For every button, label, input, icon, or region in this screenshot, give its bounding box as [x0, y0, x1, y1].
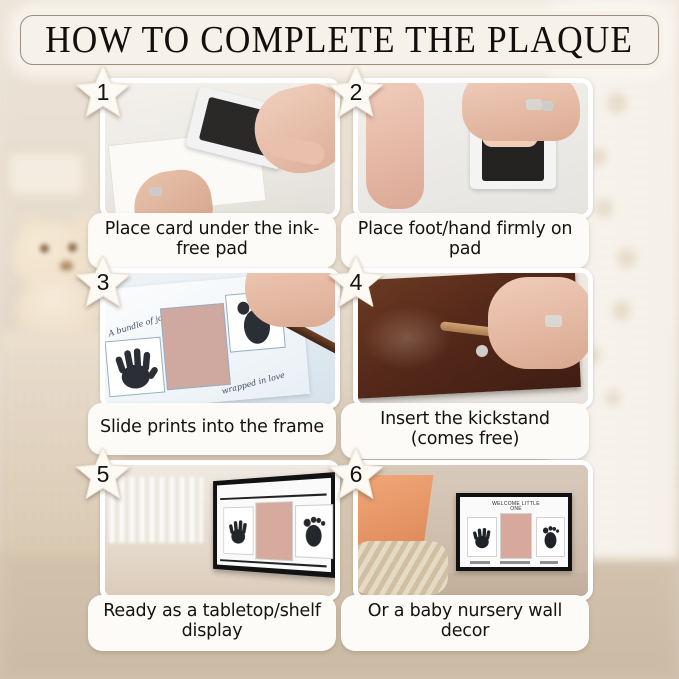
step-number-6: 6	[327, 446, 385, 504]
scene2-ring-1	[526, 99, 542, 110]
page-title-banner: HOW TO COMPLETE THE PLAQUE	[16, 11, 663, 69]
scene5-divider-top	[220, 493, 326, 500]
step-photo-slide-prints: A bundle of joy	[100, 268, 340, 409]
scene6-knit-blanket	[358, 541, 448, 595]
scene5-baby-photo-cell	[255, 501, 293, 561]
scene2-adult-hand	[462, 83, 580, 141]
scene5-plaque-mat	[217, 478, 331, 572]
scene6-frame-mat: WELCOME LITTLE ONE	[460, 497, 568, 567]
step-caption-6: Or a baby nursery wall decor	[347, 602, 583, 642]
scene6-label-right	[540, 561, 558, 564]
step-card-4: 4 Insert the kickstand (comes free)	[341, 268, 589, 459]
step-card-1: 1 Place card under the ink-free pad	[88, 78, 336, 269]
step-photo-place-card	[100, 78, 340, 219]
scene5-divider-bottom	[220, 559, 326, 567]
footprint-icon	[537, 518, 564, 556]
scene6-label-center	[500, 561, 530, 564]
step-card-3: 3 A bundle of joy	[88, 268, 336, 455]
handprint-icon	[106, 338, 165, 397]
scene6-wall-frame: WELCOME LITTLE ONE	[456, 493, 572, 571]
step-card-5: 5	[88, 460, 336, 651]
scene3-handprint-box	[105, 337, 165, 398]
scene1-ring	[149, 187, 162, 196]
step-caption-5: Ready as a tabletop/shelf display	[94, 602, 330, 642]
step-caption-box-6: Or a baby nursery wall decor	[341, 595, 589, 651]
step-photo-tabletop-display	[100, 460, 340, 601]
scene4-screw	[476, 345, 488, 357]
handprint-icon	[468, 518, 496, 556]
scene4-board-sheen	[361, 304, 454, 373]
scene5-plaque-frame	[213, 472, 335, 578]
step-number-4: 4	[327, 254, 385, 312]
scene6-handprint-cell	[467, 517, 497, 557]
star-badge-icon-3: 3	[74, 254, 132, 312]
step-caption-3: Slide prints into the frame	[100, 418, 324, 438]
handprint-icon	[224, 507, 253, 554]
steps-grid: 1 Place card under the ink-free pad	[0, 78, 679, 678]
step-card-6: 6 WELCOME LITTLE ONE	[341, 460, 589, 651]
scene5-footprint-cell	[295, 504, 333, 559]
infographic-root: HOW TO COMPLETE THE PLAQUE 1	[0, 0, 679, 679]
step-number-2: 2	[327, 64, 385, 122]
scene5-handprint-cell	[223, 506, 253, 555]
star-badge-icon-1: 1	[74, 64, 132, 122]
star-badge-icon-6: 6	[327, 446, 385, 504]
scene2-ring-2	[542, 101, 553, 111]
scene6-label-left	[470, 561, 490, 564]
step-photo-press-foot	[353, 78, 593, 219]
scene6-baby-photo-cell	[500, 513, 532, 559]
star-badge-icon-4: 4	[327, 254, 385, 312]
footprint-icon	[296, 505, 332, 558]
page-title: HOW TO COMPLETE THE PLAQUE	[46, 18, 634, 62]
scene4-ring	[545, 315, 562, 327]
step-caption-box-5: Ready as a tabletop/shelf display	[88, 595, 336, 651]
star-badge-icon-5: 5	[74, 446, 132, 504]
step-card-2: 2 Place foot/hand firmly on pad	[341, 78, 589, 269]
step-number-1: 1	[74, 64, 132, 122]
star-badge-icon-2: 2	[327, 64, 385, 122]
step-photo-insert-kickstand	[353, 268, 593, 409]
scene3-baby-photo	[160, 303, 231, 390]
step-number-5: 5	[74, 446, 132, 504]
step-photo-wall-decor: WELCOME LITTLE ONE	[353, 460, 593, 601]
page-title-border: HOW TO COMPLETE THE PLAQUE	[20, 15, 659, 65]
scene6-footprint-cell	[536, 517, 565, 557]
scene4-hand	[488, 277, 588, 369]
step-caption-4: Insert the kickstand (comes free)	[347, 410, 583, 450]
scene3-script-top: A bundle of joy	[107, 312, 168, 338]
scene6-frame-heading: WELCOME LITTLE ONE	[486, 502, 546, 513]
step-number-3: 3	[74, 254, 132, 312]
